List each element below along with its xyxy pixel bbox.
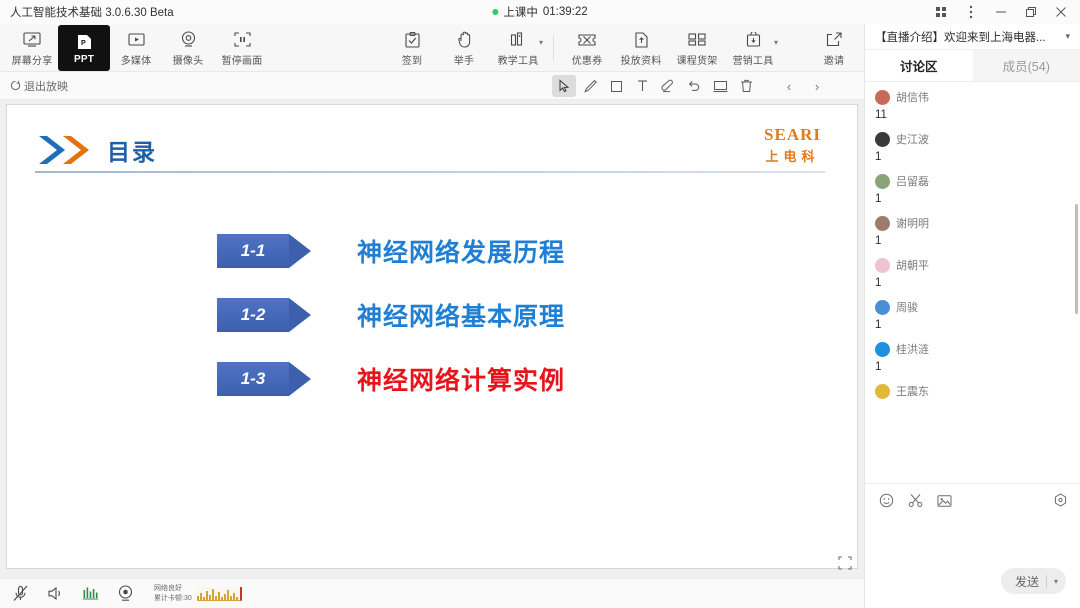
window-controls bbox=[926, 0, 1076, 24]
toolbar-coupon-label: 优惠券 bbox=[572, 52, 603, 67]
chat-message: 桂洪涟 1 bbox=[875, 341, 1080, 373]
course-shelf-icon bbox=[686, 30, 708, 50]
chat-message-text: 1 bbox=[875, 151, 1080, 163]
maximize-icon[interactable] bbox=[1016, 0, 1046, 24]
tab-discussion-label: 讨论区 bbox=[900, 56, 938, 75]
toolbar-push-material-label: 投放资料 bbox=[621, 52, 662, 67]
camera-icon bbox=[177, 30, 199, 50]
toolbar-invite-label: 邀请 bbox=[824, 52, 844, 67]
exit-presentation-label: 退出放映 bbox=[24, 78, 68, 94]
toolbar-center-group: 签到 举手 教学工具 ▾ 优惠券 bbox=[386, 24, 781, 72]
chat-sender-name: 胡信伟 bbox=[896, 89, 929, 105]
panel-tabs: 讨论区 成员(54) bbox=[865, 50, 1080, 82]
ppt-icon: P bbox=[73, 32, 95, 52]
trash-icon[interactable] bbox=[734, 75, 758, 97]
toolbar-camera[interactable]: 摄像头 bbox=[162, 25, 214, 71]
panel-header[interactable]: 【直播介绍】欢迎来到上海电器... ▾ bbox=[865, 24, 1080, 50]
more-icon[interactable] bbox=[956, 0, 986, 24]
text-icon[interactable] bbox=[630, 75, 654, 97]
toolbar-coupon[interactable]: 优惠券 bbox=[561, 25, 613, 71]
toolbar-ppt-label: PPT bbox=[74, 54, 94, 65]
toolbar-checkin-label: 签到 bbox=[402, 52, 422, 67]
fullscreen-toggle-icon[interactable] bbox=[838, 556, 852, 570]
toolbar-marketing-tools[interactable]: 营销工具 ▾ bbox=[725, 25, 781, 71]
logo-sub-text: 上电科 bbox=[764, 146, 821, 165]
avatar bbox=[875, 300, 890, 315]
toc-tag: 1-1 bbox=[217, 234, 289, 268]
chat-scrollbar[interactable] bbox=[1075, 204, 1078, 314]
toolbar-media-label: 多媒体 bbox=[121, 52, 152, 67]
send-button-label: 发送 bbox=[1015, 573, 1039, 590]
app-title: 人工智能技术基础 3.0.6.30 Beta bbox=[0, 4, 174, 20]
slide-stage: 目录 SEARI 上电科 1-1 神经网络发展历程 1-2 神经网络基本原理 bbox=[0, 100, 864, 578]
status-bar: 网络良好 累计卡顿:30 bbox=[0, 578, 864, 608]
push-material-icon bbox=[630, 30, 652, 50]
message-composer: 发送 ▾ bbox=[865, 483, 1080, 608]
slide-header-rule bbox=[35, 171, 825, 173]
panel-header-title: 【直播介绍】欢迎来到上海电器... bbox=[875, 29, 1046, 45]
avatar bbox=[875, 384, 890, 399]
coupon-icon bbox=[576, 30, 598, 50]
chat-message-list[interactable]: 胡信伟 11 史江波 1 吕留磊 1 谢明明 1 胡朝平 bbox=[865, 83, 1080, 507]
toolbar-media[interactable]: 多媒体 bbox=[110, 25, 162, 71]
chat-message-text: 1 bbox=[875, 235, 1080, 247]
exit-presentation-button[interactable]: 退出放映 bbox=[0, 78, 68, 94]
camera-status-icon[interactable] bbox=[117, 585, 134, 602]
send-button[interactable]: 发送 ▾ bbox=[1001, 568, 1066, 594]
live-teaching-app: 人工智能技术基础 3.0.6.30 Beta 上课中 01:39:22 bbox=[0, 0, 1080, 608]
toolbar-raise-hand[interactable]: 举手 bbox=[438, 25, 490, 71]
toc-item: 1-1 神经网络发展历程 bbox=[217, 233, 565, 269]
network-text: 网络良好 累计卡顿:30 bbox=[154, 584, 192, 603]
slide-canvas[interactable]: 目录 SEARI 上电科 1-1 神经网络发展历程 1-2 神经网络基本原理 bbox=[6, 104, 858, 569]
toolbar-divider bbox=[553, 35, 554, 61]
send-divider bbox=[1046, 575, 1047, 588]
chat-sender-name: 吕留磊 bbox=[896, 173, 929, 189]
toc-tag: 1-2 bbox=[217, 298, 289, 332]
undo-icon[interactable] bbox=[682, 75, 706, 97]
chevron-down-icon[interactable]: ▾ bbox=[1054, 577, 1062, 586]
prev-slide-button[interactable]: ‹ bbox=[776, 75, 802, 97]
emoji-icon[interactable] bbox=[879, 493, 894, 508]
teaching-tools-icon bbox=[507, 30, 529, 50]
toolbar-course-shelf[interactable]: 课程货架 bbox=[669, 25, 725, 71]
scissors-icon[interactable] bbox=[908, 493, 923, 508]
logo-main-text: SEARI bbox=[764, 125, 821, 145]
eraser-icon[interactable] bbox=[656, 75, 680, 97]
toolbar-screen-share[interactable]: 屏幕分享 bbox=[6, 25, 58, 71]
chevron-down-icon[interactable]: ▾ bbox=[1065, 31, 1070, 42]
avatar bbox=[875, 174, 890, 189]
avatar bbox=[875, 132, 890, 147]
live-dot-icon bbox=[492, 9, 498, 15]
close-icon[interactable] bbox=[1046, 0, 1076, 24]
live-status-label: 上课中 bbox=[503, 4, 538, 20]
chat-message-text: 1 bbox=[875, 277, 1080, 289]
grid-icon[interactable] bbox=[926, 0, 956, 24]
settings-icon[interactable] bbox=[1053, 493, 1068, 508]
double-chevron-icon bbox=[37, 133, 93, 167]
toc-arrow-icon bbox=[289, 234, 311, 268]
screen-share-icon bbox=[21, 30, 43, 50]
toolbar-screen-share-label: 屏幕分享 bbox=[12, 52, 53, 67]
media-icon bbox=[125, 30, 147, 50]
minimize-icon[interactable] bbox=[986, 0, 1016, 24]
marketing-tools-icon bbox=[742, 30, 764, 50]
slide-title: 目录 bbox=[107, 133, 157, 167]
chat-message: 史江波 1 bbox=[875, 131, 1080, 163]
checkin-icon bbox=[401, 30, 423, 50]
toolbar-raise-hand-label: 举手 bbox=[454, 52, 474, 67]
toolbar-course-shelf-label: 课程货架 bbox=[677, 52, 718, 67]
speaker-icon[interactable] bbox=[47, 586, 64, 601]
invite-icon bbox=[823, 30, 845, 50]
seari-logo: SEARI 上电科 bbox=[764, 125, 821, 165]
toolbar-left-group: 屏幕分享 P PPT 多媒体 摄像头 bbox=[6, 24, 270, 72]
toolbar-invite[interactable]: 邀请 bbox=[808, 25, 860, 71]
class-timer: 01:39:22 bbox=[543, 6, 588, 18]
toolbar-ppt[interactable]: P PPT bbox=[58, 25, 110, 71]
cursor-icon[interactable] bbox=[552, 75, 576, 97]
avatar bbox=[875, 90, 890, 105]
title-bar: 人工智能技术基础 3.0.6.30 Beta 上课中 01:39:22 bbox=[0, 0, 1080, 24]
chat-message: 谢明明 1 bbox=[875, 215, 1080, 247]
pause-frame-icon bbox=[231, 30, 253, 50]
tab-members[interactable]: 成员(54) bbox=[973, 50, 1080, 81]
chat-sender-name: 王震东 bbox=[896, 383, 929, 399]
slide-toc-list: 1-1 神经网络发展历程 1-2 神经网络基本原理 1-3 神经网络计算实例 bbox=[217, 233, 565, 397]
chat-sender-name: 史江波 bbox=[896, 131, 929, 147]
chat-message-text: 1 bbox=[875, 361, 1080, 373]
screen-icon[interactable] bbox=[708, 75, 732, 97]
toolbar-marketing-tools-label: 营销工具 bbox=[733, 52, 774, 67]
toolbar-pause-frame[interactable]: 暂停画面 bbox=[214, 25, 270, 71]
annotation-tools: ‹ › bbox=[552, 72, 830, 100]
network-detail-label: 累计卡顿:30 bbox=[154, 595, 192, 602]
slide-header: 目录 bbox=[37, 133, 157, 167]
refresh-icon bbox=[10, 80, 21, 91]
network-quality-label: 网络良好 bbox=[154, 585, 182, 592]
pen-icon[interactable] bbox=[578, 75, 602, 97]
annotation-bar: 退出放映 bbox=[0, 72, 864, 100]
chat-sender-name: 谢明明 bbox=[896, 215, 929, 231]
avatar bbox=[875, 216, 890, 231]
toolbar-teaching-tools[interactable]: 教学工具 ▾ bbox=[490, 25, 546, 71]
toc-item: 1-3 神经网络计算实例 bbox=[217, 361, 565, 397]
next-slide-button[interactable]: › bbox=[804, 75, 830, 97]
toc-item: 1-2 神经网络基本原理 bbox=[217, 297, 565, 333]
avatar bbox=[875, 342, 890, 357]
chat-message: 王震东 bbox=[875, 383, 1080, 399]
chat-sender-name: 胡朝平 bbox=[896, 257, 929, 273]
network-status[interactable]: 网络良好 累计卡顿:30 bbox=[154, 584, 242, 603]
toc-arrow-icon bbox=[289, 362, 311, 396]
toolbar-pause-frame-label: 暂停画面 bbox=[222, 52, 263, 67]
toc-arrow-icon bbox=[289, 298, 311, 332]
chat-message-text: 1 bbox=[875, 193, 1080, 205]
rectangle-icon[interactable] bbox=[604, 75, 628, 97]
chat-sender-name: 周骏 bbox=[896, 299, 918, 315]
mic-muted-icon[interactable] bbox=[12, 585, 29, 602]
toolbar-checkin[interactable]: 签到 bbox=[386, 25, 438, 71]
toolbar-teaching-tools-label: 教学工具 bbox=[498, 52, 539, 67]
chat-message: 吕留磊 1 bbox=[875, 173, 1080, 205]
chat-message: 周骏 1 bbox=[875, 299, 1080, 331]
toc-label: 神经网络计算实例 bbox=[357, 361, 565, 397]
chat-message: 胡信伟 11 bbox=[875, 89, 1080, 121]
toc-label: 神经网络基本原理 bbox=[357, 297, 565, 333]
chevron-down-icon: ▾ bbox=[774, 38, 778, 47]
toc-tag: 1-3 bbox=[217, 362, 289, 396]
image-icon[interactable] bbox=[937, 494, 952, 508]
tab-members-label: 成员(54) bbox=[1003, 56, 1050, 75]
live-status: 上课中 01:39:22 bbox=[492, 4, 587, 20]
network-bars-chart bbox=[197, 587, 242, 601]
svg-text:P: P bbox=[81, 40, 86, 47]
tab-discussion[interactable]: 讨论区 bbox=[865, 50, 973, 81]
avatar bbox=[875, 258, 890, 273]
raise-hand-icon bbox=[453, 30, 475, 50]
toolbar-push-material[interactable]: 投放资料 bbox=[613, 25, 669, 71]
right-panel: 【直播介绍】欢迎来到上海电器... ▾ 讨论区 成员(54) 胡信伟 11 史江… bbox=[864, 24, 1080, 608]
audio-levels-icon[interactable] bbox=[82, 586, 99, 601]
chevron-down-icon: ▾ bbox=[539, 38, 543, 47]
chat-message-text: 11 bbox=[875, 109, 1080, 121]
chat-message-text: 1 bbox=[875, 319, 1080, 331]
chat-sender-name: 桂洪涟 bbox=[896, 341, 929, 357]
toolbar-camera-label: 摄像头 bbox=[173, 52, 204, 67]
toc-label: 神经网络发展历程 bbox=[357, 233, 565, 269]
composer-toolbar bbox=[865, 484, 1080, 508]
chat-message: 胡朝平 1 bbox=[875, 257, 1080, 289]
